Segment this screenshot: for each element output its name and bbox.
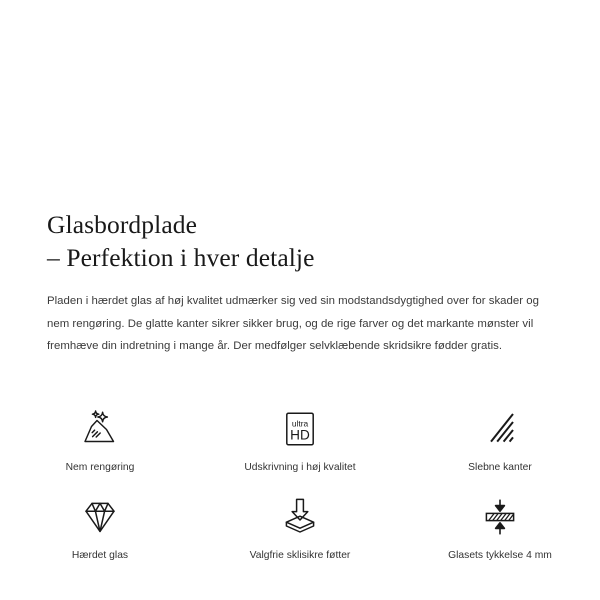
product-description: Pladen i hærdet glas af høj kvalitet udm… [0, 274, 600, 358]
anti-slip-feet-icon [277, 494, 323, 540]
feature-label: Valgfrie sklisikre føtter [250, 549, 351, 563]
content-section: Glasbordplade – Perfektion i hver detalj… [0, 200, 600, 358]
feature-label: Udskrivning i høj kvalitet [244, 461, 355, 475]
feature-label: Nem rengøring [66, 461, 135, 475]
page-title-line-2: – Perfektion i hver detalje [47, 241, 560, 274]
feature-item-anti-slip-feet: Valgfrie sklisikre føtter [200, 488, 400, 576]
feature-label: Hærdet glas [72, 549, 128, 563]
feature-grid: Nem rengøring ultra HD Udskrivning i høj… [0, 400, 600, 576]
feature-item-glass-thickness: Glasets tykkelse 4 mm [400, 488, 600, 576]
feature-item-tempered-glass: Hærdet glas [0, 488, 200, 576]
feature-label: Glasets tykkelse 4 mm [448, 549, 552, 563]
tempered-glass-diamond-icon [77, 494, 123, 540]
glass-thickness-icon [477, 494, 523, 540]
easy-cleaning-icon [77, 406, 123, 452]
glass-tabletop-illustration [0, 0, 600, 200]
feature-item-ultra-hd: ultra HD Udskrivning i høj kvalitet [200, 400, 400, 488]
hero-image [0, 0, 600, 200]
ultra-hd-icon: ultra HD [277, 406, 323, 452]
page-title: Glasbordplade – Perfektion i hver detalj… [0, 200, 600, 274]
feature-label: Slebne kanter [468, 461, 532, 475]
feature-item-easy-cleaning: Nem rengøring [0, 400, 200, 488]
polished-edges-icon [477, 406, 523, 452]
feature-item-polished-edges: Slebne kanter [400, 400, 600, 488]
ultra-hd-badge-bottom: HD [290, 428, 310, 443]
page-title-line-1: Glasbordplade [47, 210, 197, 239]
